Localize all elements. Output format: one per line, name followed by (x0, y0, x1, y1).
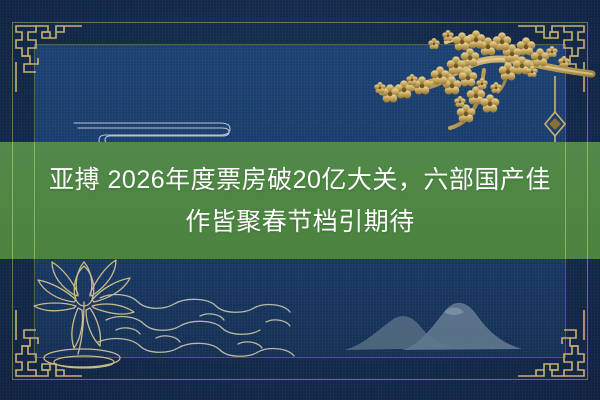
promo-banner: 亚搏 2026年度票房破20亿大关，六部国产佳 作皆聚春节档引期待 (0, 0, 600, 400)
headline-line-1: 亚搏 2026年度票房破20亿大关，六部国产佳 (49, 159, 551, 201)
headline-text: 亚搏 2026年度票房破20亿大关，六部国产佳 作皆聚春节档引期待 (0, 142, 600, 259)
headline-line-2: 作皆聚春节档引期待 (185, 201, 415, 243)
